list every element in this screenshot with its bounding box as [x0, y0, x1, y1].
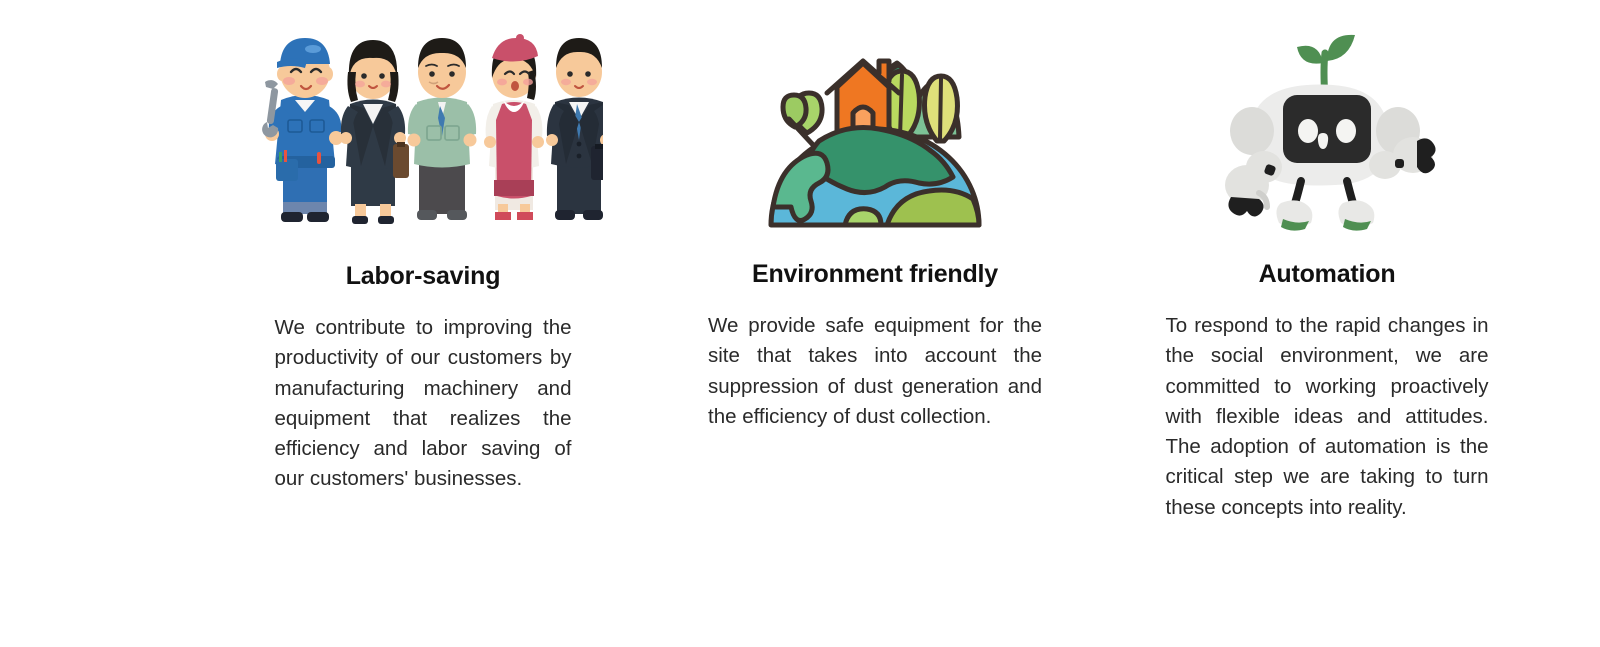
robot-with-sprout-illustration — [1209, 27, 1445, 232]
illustration-earth-with-nature — [649, 0, 1101, 232]
robot-eye-right — [1336, 119, 1356, 143]
robot-eye-left — [1298, 119, 1318, 143]
robot-legs — [1276, 181, 1374, 231]
earth-with-nature-and-house-illustration — [759, 27, 991, 232]
feature-column-environment-friendly: Environment friendly We provide safe equ… — [649, 0, 1101, 432]
feature-columns-page: Labor-saving We contribute to improving … — [0, 0, 1600, 647]
card-body-automation: To respond to the rapid changes in the s… — [1166, 311, 1489, 523]
robot-face-screen — [1283, 95, 1371, 163]
apron-woman-figure — [484, 34, 544, 220]
wrench-icon — [262, 80, 278, 137]
robot-hand-right — [1393, 137, 1436, 173]
worker-figure — [262, 38, 343, 222]
card-body-labor-saving: We contribute to improving the productiv… — [275, 313, 572, 495]
illustration-group-of-five-workers — [197, 0, 649, 232]
businessman-figure — [546, 38, 603, 220]
columns-container: Labor-saving We contribute to improving … — [0, 0, 1600, 647]
feature-column-labor-saving: Labor-saving We contribute to improving … — [197, 0, 649, 495]
robot-hand-left — [1225, 164, 1276, 217]
card-body-environment-friendly: We provide safe equipment for the site t… — [708, 311, 1042, 432]
feature-column-automation: Automation To respond to the rapid chang… — [1101, 0, 1553, 523]
businesswoman-figure — [340, 40, 409, 224]
card-title-environment-friendly: Environment friendly — [752, 260, 998, 289]
card-title-automation: Automation — [1259, 260, 1396, 289]
senior-man-figure — [408, 38, 477, 220]
group-of-five-workers-illustration — [243, 16, 603, 232]
illustration-robot-with-sprout — [1101, 0, 1553, 232]
card-title-labor-saving: Labor-saving — [346, 262, 501, 291]
